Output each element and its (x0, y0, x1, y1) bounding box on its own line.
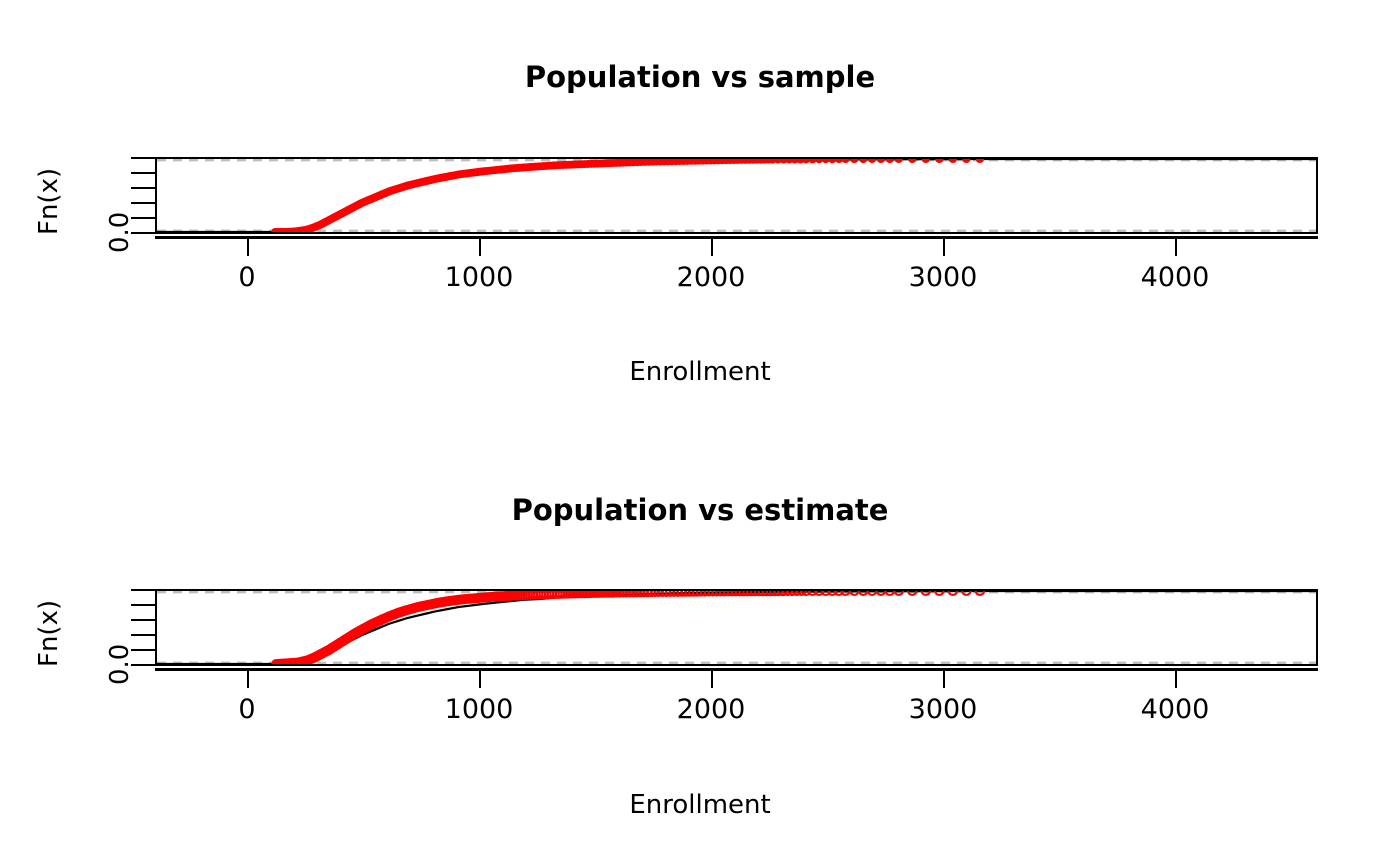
data-point (962, 159, 970, 163)
x-tick-label: 3000 (909, 262, 978, 293)
y-tick-label-zero: 0.0 (105, 644, 135, 685)
y-axis-label: Fn(x) (34, 168, 64, 235)
y-tick-label-zero: 0.0 (105, 212, 135, 253)
x-tick (479, 668, 481, 688)
x-tick (247, 668, 249, 688)
x-tick-label: 1000 (445, 262, 514, 293)
data-point (935, 159, 943, 163)
ecdf-chart-estimate (157, 591, 1316, 664)
ecdf-chart-sample (157, 159, 1316, 232)
x-tick-label: 1000 (445, 694, 514, 725)
data-point (868, 159, 876, 163)
data-point (976, 159, 984, 163)
data-point (841, 159, 849, 163)
x-tick (943, 236, 945, 256)
y-tick (131, 187, 155, 189)
x-tick (1175, 236, 1177, 256)
data-point (895, 159, 903, 163)
data-point (877, 159, 885, 163)
plot-panel-population-vs-sample: Population vs sample Fn(x) 0.0 0 1000 20… (0, 0, 1400, 433)
x-axis-line (155, 668, 1318, 671)
y-tick (131, 202, 155, 204)
data-point (850, 159, 858, 163)
plot-area (155, 589, 1318, 666)
x-tick (711, 668, 713, 688)
data-point (949, 159, 957, 163)
x-tick-label: 0 (238, 262, 255, 293)
plot-area (155, 157, 1318, 234)
y-axis-label: Fn(x) (34, 600, 64, 667)
x-tick-label: 0 (238, 694, 255, 725)
x-tick (711, 236, 713, 256)
x-axis: 0 1000 2000 3000 4000 (155, 236, 1318, 296)
x-tick-label: 2000 (677, 262, 746, 293)
y-tick (131, 589, 155, 591)
y-tick (131, 619, 155, 621)
data-point (908, 159, 916, 163)
x-tick-label: 3000 (909, 694, 978, 725)
y-tick (131, 604, 155, 606)
x-tick-label: 2000 (677, 694, 746, 725)
x-tick-label: 4000 (1141, 694, 1210, 725)
x-axis-line (155, 236, 1318, 239)
panel-title: Population vs estimate (0, 493, 1400, 527)
x-tick (1175, 668, 1177, 688)
plot-clip (157, 159, 1316, 232)
plot-clip (157, 591, 1316, 664)
x-tick-label: 4000 (1141, 262, 1210, 293)
data-point (859, 159, 867, 163)
x-tick (943, 668, 945, 688)
data-point (922, 159, 930, 163)
data-point (886, 159, 894, 163)
x-axis: 0 1000 2000 3000 4000 (155, 668, 1318, 728)
panel-title: Population vs sample (0, 60, 1400, 94)
x-axis-label: Enrollment (0, 357, 1400, 387)
y-tick (131, 157, 155, 159)
plot-panel-population-vs-estimate: Population vs estimate Fn(x) 0.0 0 1000 … (0, 433, 1400, 866)
y-tick (131, 172, 155, 174)
sample-points (271, 159, 984, 232)
y-tick (131, 634, 155, 636)
x-axis-label: Enrollment (0, 790, 1400, 820)
x-tick (247, 236, 249, 256)
x-tick (479, 236, 481, 256)
